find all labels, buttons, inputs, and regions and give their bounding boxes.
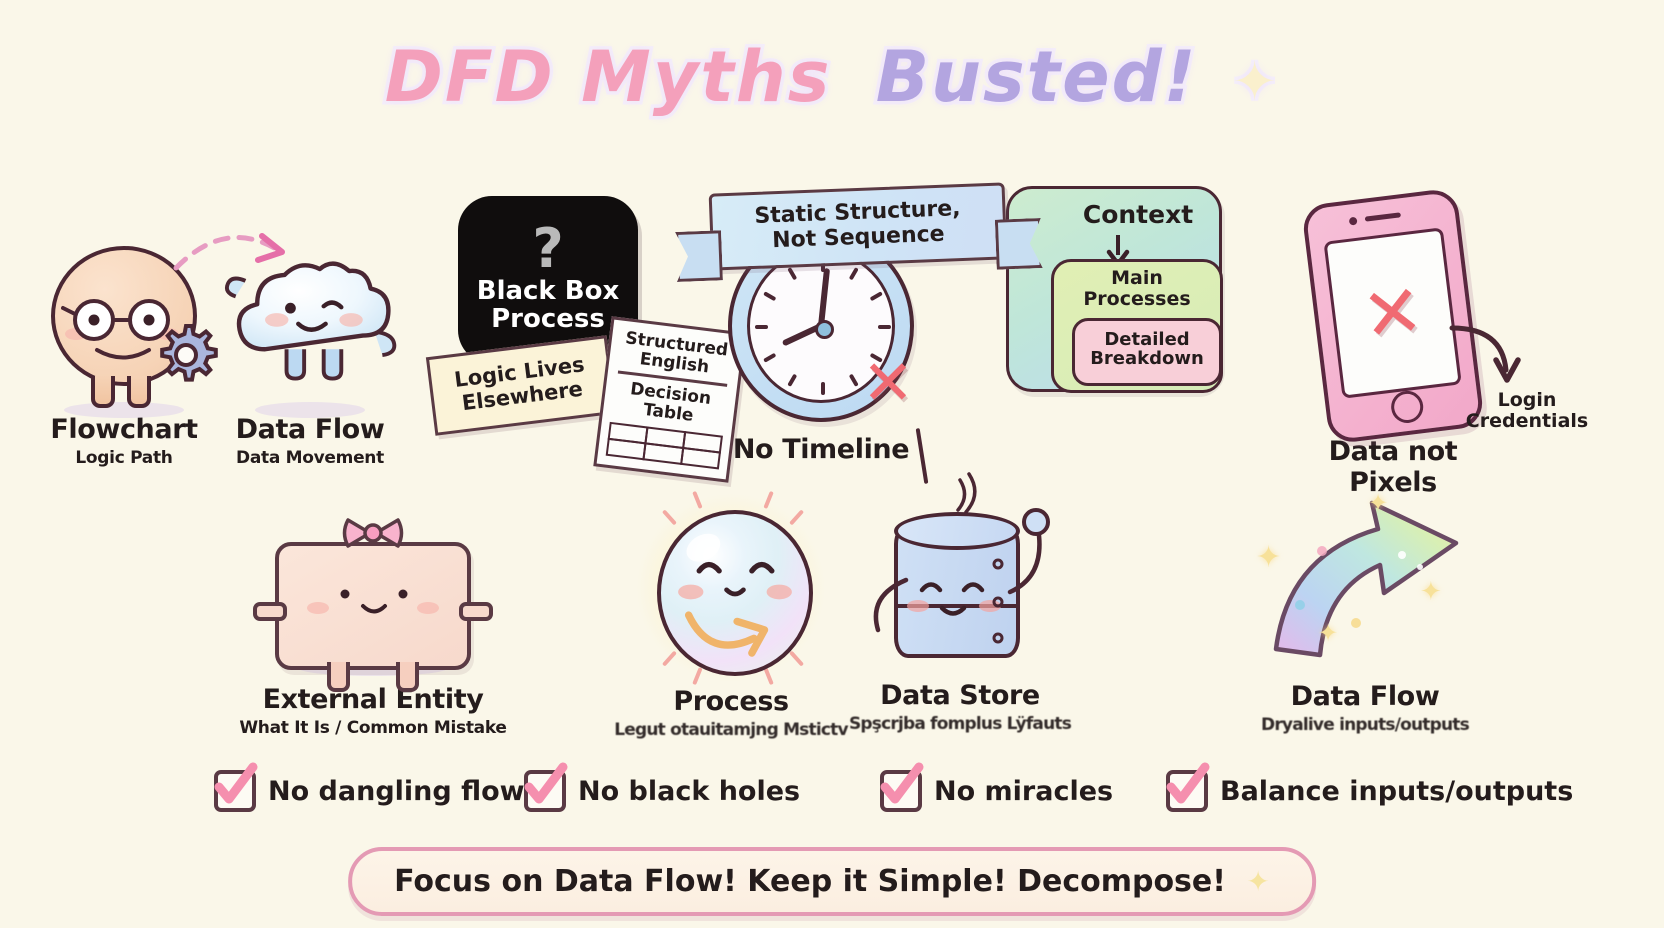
- home-button-icon: [1389, 389, 1425, 425]
- main-processes-line-1: Main: [1058, 268, 1216, 289]
- rectangle-character-with-bow-icon: [275, 542, 471, 670]
- checklist-item[interactable]: No dangling flows: [214, 770, 541, 812]
- sparkle-icon: ✦: [1368, 491, 1388, 515]
- face-icon: [327, 586, 421, 620]
- camera-icon: [1349, 217, 1358, 226]
- sticky-note-structured-english: Structured English Decision Table: [593, 316, 746, 482]
- clock-pivot: [815, 320, 834, 339]
- left-arm-icon: [856, 574, 914, 644]
- detailed-breakdown-line-2: Breakdown: [1077, 349, 1217, 368]
- checklist-label: No dangling flows: [268, 776, 541, 807]
- checklist: No dangling flows No black holes No mira…: [0, 770, 1664, 826]
- checklist-item[interactable]: No black holes: [524, 770, 800, 812]
- main-processes-box: Main Processes Detailed Breakdown: [1051, 259, 1223, 393]
- page-title: DFD Myths Busted! ✦: [0, 36, 1664, 118]
- annotation-line-1: Login: [1452, 390, 1602, 411]
- rainbow-arrow-icon: ✦ ✦ ✦ ✦: [1260, 495, 1470, 665]
- checklist-item[interactable]: Balance inputs/outputs: [1166, 770, 1573, 812]
- annotation-line-2: Credentials: [1452, 411, 1602, 432]
- card-no-timeline: Static Structure, Not Sequence: [728, 230, 914, 465]
- sparkle-icon: ✦: [1256, 543, 1281, 573]
- bow-icon: [342, 516, 404, 550]
- black-box-line-1: Black Box: [477, 277, 619, 305]
- winking-cloud-icon: [222, 246, 398, 386]
- context-label: Context: [1065, 201, 1211, 228]
- checklist-item[interactable]: No miracles: [880, 770, 1113, 812]
- card-subtitle: Spşcrjba fomplus Lÿfauts: [810, 714, 1110, 734]
- checkbox-checked-icon[interactable]: [524, 770, 566, 812]
- card-external-entity: External Entity What It Is / Common Mist…: [166, 520, 580, 738]
- red-x-icon: ✕: [862, 352, 914, 414]
- phone-screen: ✕: [1323, 227, 1461, 398]
- card-subtitle: Data Movement: [222, 448, 398, 468]
- black-box-line-2: Process: [491, 305, 605, 333]
- card-data-store: Data Store Spşcrjba fomplus Lÿfauts: [860, 490, 1060, 734]
- card-title: Data Flow: [1190, 681, 1540, 712]
- right-arm-icon: [1002, 506, 1068, 610]
- nested-boxes-icon: Context Main Processes Detailed Breakdow…: [1006, 186, 1222, 392]
- red-x-icon: ✕: [1358, 274, 1427, 353]
- checklist-label: No miracles: [934, 776, 1113, 807]
- checkbox-checked-icon[interactable]: [214, 770, 256, 812]
- card-data-flow-cloud: Data Flow Data Movement: [222, 246, 398, 468]
- sparkle-icon: ✦: [1420, 579, 1442, 605]
- card-subtitle: Dryalive inputs/outputs: [1190, 715, 1540, 735]
- footer-banner: Focus on Data Flow! Keep it Simple! Deco…: [348, 847, 1316, 916]
- ribbon-banner: Static Structure, Not Sequence: [709, 182, 1008, 271]
- ground-shadow: [255, 402, 365, 418]
- ground-shadow: [64, 402, 184, 418]
- card-title: Flowchart: [44, 414, 204, 445]
- card-subtitle: Logic Path: [44, 448, 204, 468]
- checklist-label: Balance inputs/outputs: [1220, 776, 1573, 807]
- checkbox-checked-icon[interactable]: [880, 770, 922, 812]
- checkbox-checked-icon[interactable]: [1166, 770, 1208, 812]
- gear-icon: [153, 322, 219, 388]
- card-data-flow-arrow: ✦ ✦ ✦ ✦ Data Flow Dryalive inputs/output…: [1190, 495, 1540, 735]
- sparkle-icon: ✦: [1318, 621, 1338, 645]
- face-icon: [898, 528, 1016, 654]
- antenna-icon: [916, 428, 929, 484]
- sticky-note-logic: Logic Lives Elsewhere: [426, 335, 616, 436]
- detailed-breakdown-box: Detailed Breakdown: [1072, 318, 1222, 386]
- sparkle-icon: ✦: [1232, 50, 1279, 113]
- main-processes-line-2: Processes: [1058, 289, 1216, 310]
- card-title: Data not Pixels: [1300, 436, 1486, 498]
- card-title: Data Flow: [222, 414, 398, 445]
- question-mark-icon: ?: [532, 227, 563, 270]
- infographic-canvas: DFD Myths Busted! ✦: [0, 0, 1664, 928]
- detailed-breakdown-line-1: Detailed: [1077, 330, 1217, 349]
- bubble-character-icon: [631, 500, 831, 676]
- curved-arrow-icon: [1448, 322, 1534, 392]
- speaker-icon: [1365, 212, 1401, 221]
- footer-text: Focus on Data Flow! Keep it Simple! Deco…: [394, 864, 1226, 899]
- minute-hand: [818, 268, 830, 326]
- decision-table-grid: [607, 423, 722, 468]
- login-credentials-annotation: Login Credentials: [1452, 390, 1602, 432]
- card-title: No Timeline: [728, 434, 914, 465]
- card-subtitle: What It Is / Common Mistake: [166, 718, 580, 738]
- title-part-two: Busted!: [876, 36, 1198, 118]
- sparkle-icon: ✦: [1246, 865, 1269, 898]
- checklist-label: No black holes: [578, 776, 800, 807]
- card-title: Data Store: [860, 680, 1060, 711]
- title-part-one: DFD Myths: [385, 36, 832, 118]
- main-processes-label: Main Processes: [1058, 268, 1216, 309]
- card-title: External Entity: [166, 684, 580, 715]
- detailed-breakdown-label: Detailed Breakdown: [1077, 330, 1217, 369]
- smile-icon: [93, 346, 153, 366]
- card-decomposition: Context Main Processes Detailed Breakdow…: [1006, 186, 1224, 392]
- bubble-body: [657, 510, 813, 676]
